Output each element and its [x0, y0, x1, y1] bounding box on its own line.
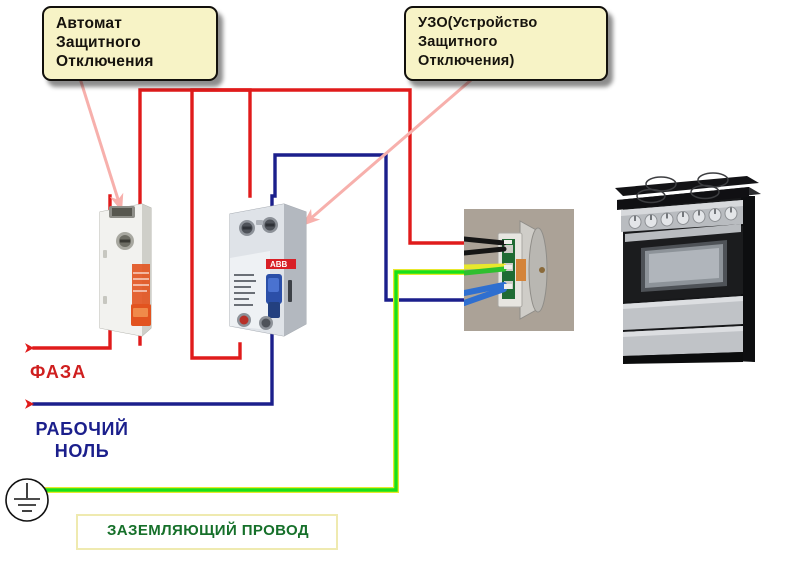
circuit-breaker-callout: Автомат Защитного Отключения [42, 6, 218, 81]
electric-stove[interactable] [609, 170, 769, 370]
diagram-canvas: ABB [0, 0, 800, 585]
callout-line: Защитного [56, 33, 204, 52]
callout-line: УЗО(Устройство [418, 14, 594, 33]
rcd-device[interactable]: ABB [222, 196, 314, 344]
callout-line: Защитного [418, 33, 594, 52]
callout-line: Отключения) [418, 52, 594, 71]
breaker-lever[interactable] [131, 304, 151, 326]
rcd-side-slot [288, 280, 292, 302]
circuit-breaker-device[interactable] [95, 196, 157, 342]
pointer-to-breaker [78, 72, 122, 212]
phase-label: ФАЗА [30, 362, 86, 383]
ground-symbol [6, 479, 48, 521]
earth-label: ЗАЗЕМЛЯЮЩИЙ ПРОВОД [84, 522, 332, 539]
callout-line: Отключения [56, 52, 204, 71]
callout-line: Автомат [56, 14, 204, 33]
rcd-callout: УЗО(Устройство Защитного Отключения) [404, 6, 608, 81]
breaker-label [132, 264, 150, 304]
breaker-top-terminal [109, 206, 135, 218]
stove-oven-door[interactable] [623, 224, 743, 302]
svg-text:ABB: ABB [270, 260, 288, 269]
neutral-label: РАБОЧИЙ НОЛЬ [27, 418, 137, 462]
breaker-screw [116, 232, 134, 250]
power-socket-terminal[interactable] [464, 209, 574, 331]
pointer-to-rcd [302, 74, 478, 226]
rcd-brand-strip: ABB [266, 259, 296, 269]
rcd-lever[interactable] [266, 274, 282, 318]
